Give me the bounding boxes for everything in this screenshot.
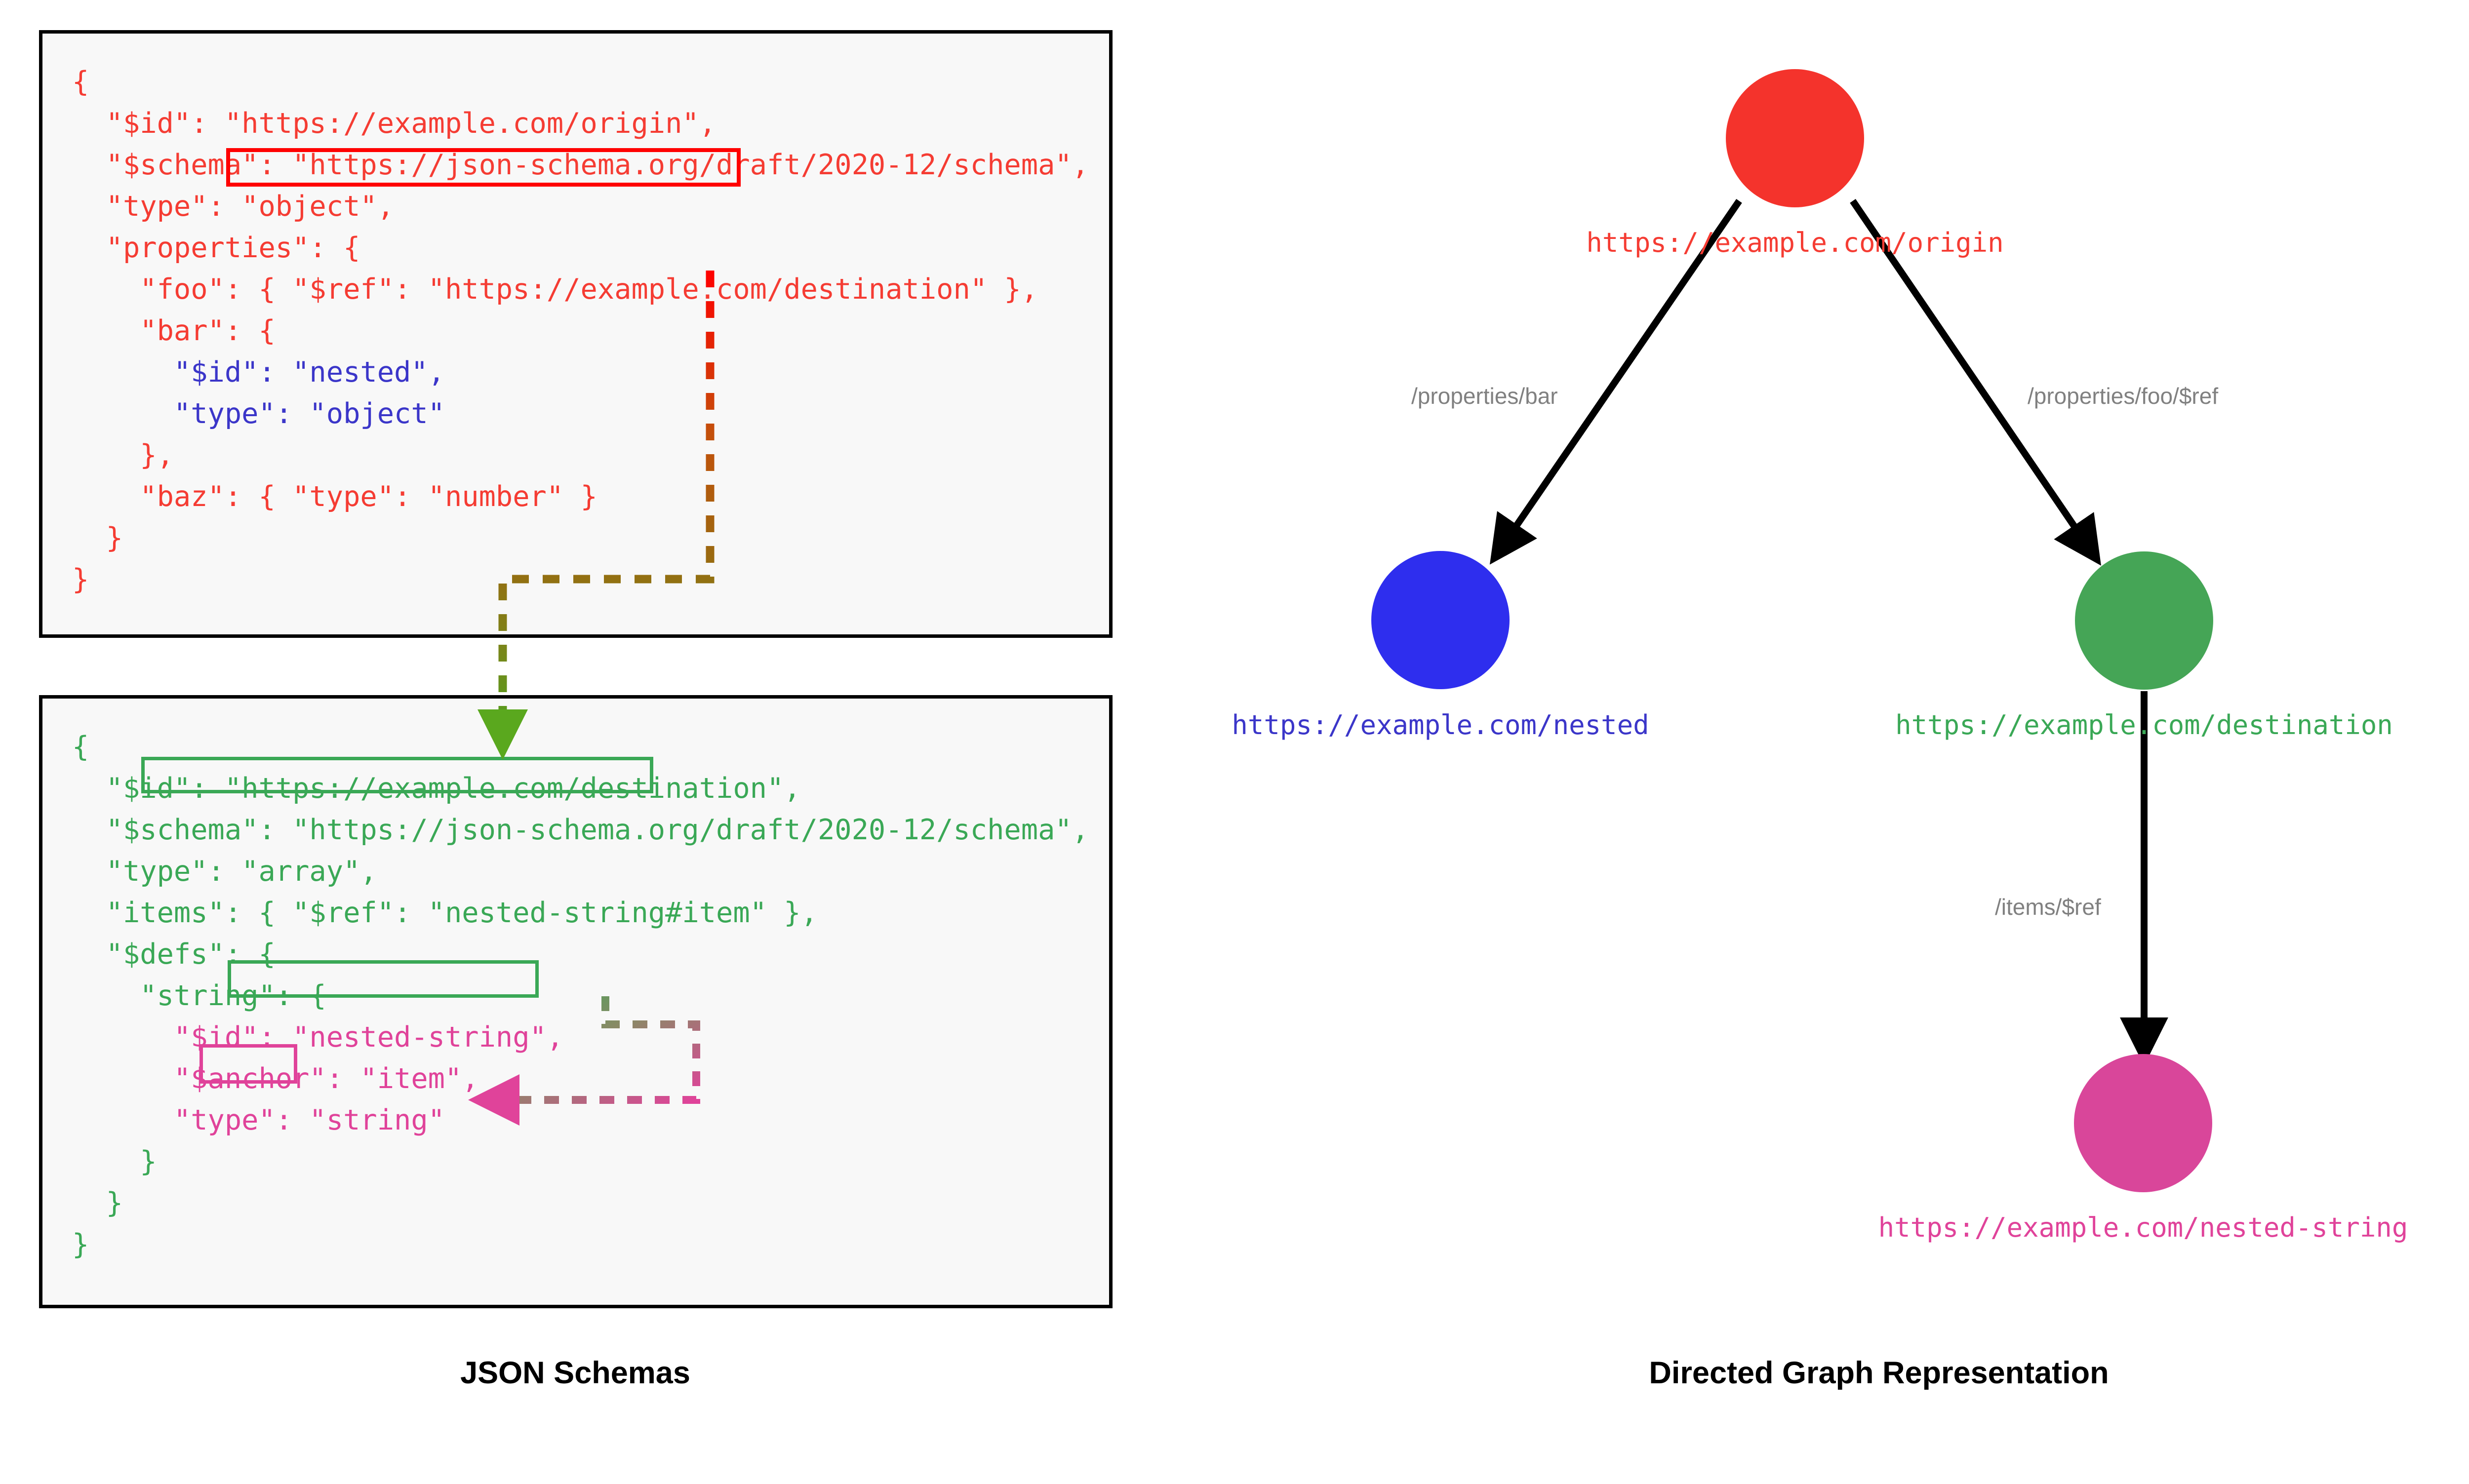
graph-edge-label-properties-bar: /properties/bar — [1411, 383, 1558, 409]
graph-node-destination — [2075, 551, 2213, 690]
graph-node-origin — [1726, 69, 1864, 207]
graph-node-nested — [1371, 551, 1510, 689]
figure-canvas: { "$id": "https://example.com/origin", "… — [0, 0, 2469, 1484]
graph-node-label-origin: https://example.com/origin — [1586, 227, 2003, 258]
graph-node-label-nested: https://example.com/nested — [1232, 709, 1649, 741]
graph-node-label-destination: https://example.com/destination — [1895, 709, 2393, 741]
connector-ref-to-destination — [503, 271, 710, 735]
caption-json-schemas: JSON Schemas — [0, 1355, 1151, 1391]
caption-directed-graph: Directed Graph Representation — [1264, 1355, 2469, 1391]
graph-edge-label-items-ref: /items/$ref — [1995, 894, 2101, 920]
graph-edge-label-properties-foo-ref: /properties/foo/$ref — [2028, 383, 2218, 409]
graph-node-label-nested-string: https://example.com/nested-string — [1878, 1212, 2408, 1243]
connector-items-to-anchor — [494, 996, 696, 1100]
graph-overlay — [0, 0, 2469, 1484]
graph-node-nested-string — [2074, 1054, 2212, 1192]
